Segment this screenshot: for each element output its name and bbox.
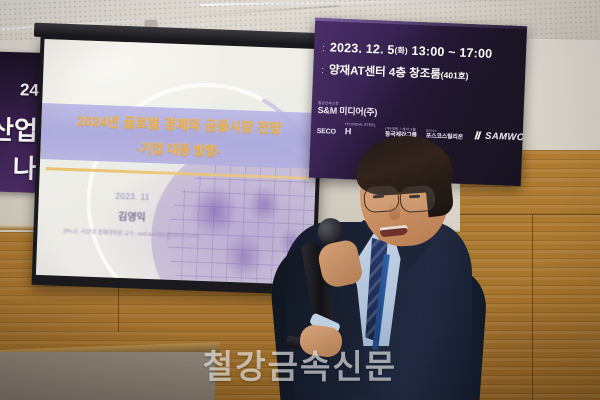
sponsor-name: 포스코스틸리온 (426, 133, 463, 141)
sponsor-logo: posco 포스코스틸리온 (426, 130, 464, 142)
event-venue-row: : 양재AT센터 4층 창조룸(401호) (321, 61, 492, 84)
left-banner-line2: 산업 (0, 109, 38, 147)
sponsor-logo: 철강금속신문 S&M 미디어(주) (317, 102, 377, 118)
sponsor-name: S&M 미디어(주) (317, 106, 377, 118)
samwoo-mark-icon (472, 132, 483, 140)
sponsor-row-primary: 철강금속신문 S&M 미디어(주) (317, 102, 519, 123)
wood-seam (532, 214, 533, 400)
bullet-colon-icon: : (322, 44, 325, 54)
event-datetime: 2023. 12. 5(화) 13:00 ~ 17:00 (330, 40, 493, 61)
floor (0, 352, 215, 400)
left-banner-line3: 나 (12, 148, 37, 186)
bullet-colon-icon: : (321, 66, 324, 76)
speaker-figure (272, 150, 482, 400)
event-time: 13:00 ~ 17:00 (411, 44, 492, 61)
slide-title: 2024년 글로벌 경제와 금융시장 전망 (77, 110, 283, 137)
event-venue-room: (401호) (441, 70, 469, 81)
sponsor-name: SAMWOO (472, 132, 527, 144)
eyeglasses-icon (399, 185, 436, 213)
ceiling-seam (200, 0, 600, 6)
event-datetime-row: : 2023. 12. 5(화) 13:00 ~ 17:00 (322, 40, 493, 61)
event-day-of-week: (화) (394, 46, 408, 56)
left-banner-line1: 24 (20, 80, 39, 101)
sponsor-name: H (345, 127, 377, 138)
slide-subtitle: -기업 대응 방향- (136, 137, 221, 159)
photograph-seminar-presentation: 24 산업 나 2024년 글로벌 경제와 금융시장 전망 -기업 대응 방향-… (0, 0, 600, 400)
speaker-nose (388, 202, 400, 221)
slide-meta: 2023. 11 김영익 (Ph.D, 서강대 경제대학원 교수, well-k… (37, 189, 226, 241)
sponsor-logo: HYUNDAI STEEL H (345, 123, 377, 137)
sponsor-name-text: SAMWOO (485, 131, 527, 144)
event-date: 2023. 12. 5 (330, 40, 395, 57)
sponsor-name: SECO (317, 128, 336, 136)
sponsor-logo: SECO (317, 128, 336, 136)
slide-presenter-name: 김영익 (38, 205, 226, 227)
event-venue: 양재AT센터 4층 창조룸(401호) (329, 61, 469, 83)
event-venue-name: 양재AT센터 4층 창조룸 (329, 64, 441, 80)
event-banner-details: : 2023. 12. 5(화) 13:00 ~ 17:00 : 양재AT센터 … (321, 40, 493, 91)
sponsor-logo: SAMWOO (472, 132, 527, 144)
